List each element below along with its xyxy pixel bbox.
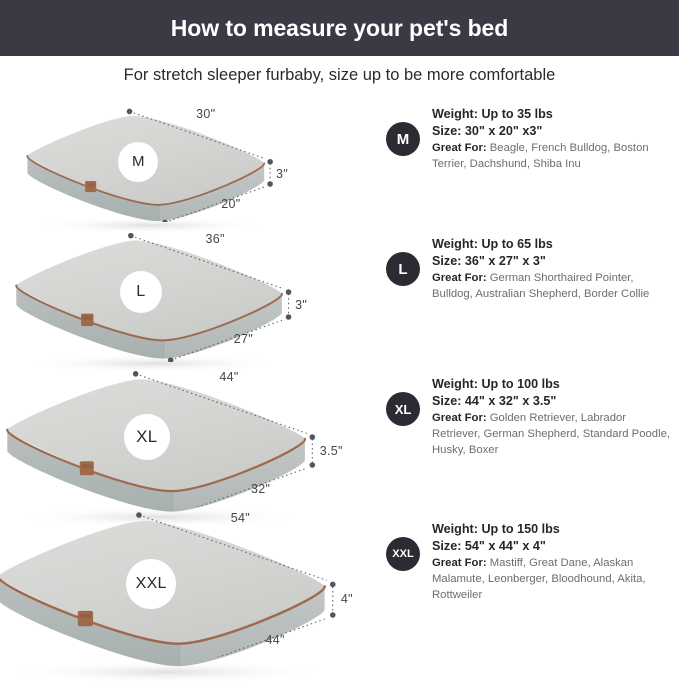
page-header-bar: How to measure your pet's bed xyxy=(0,0,679,56)
size-line: Size: 54" x 44" x 4" xyxy=(432,538,672,555)
weight-label: Weight: xyxy=(432,377,481,391)
size-value: 44" x 32" x 3.5" xyxy=(465,394,556,408)
size-badge-xl: XL xyxy=(386,392,420,426)
size-label: Size: xyxy=(432,539,465,553)
dimension-lines xyxy=(0,94,380,222)
weight-line: Weight: Up to 100 lbs xyxy=(432,376,672,393)
great-for-label: Great For: xyxy=(432,557,490,569)
weight-value: Up to 100 lbs xyxy=(481,377,559,391)
size-rows-container: M 30"3"20"M Weight: Up to 35 lbs Size: 3… xyxy=(0,94,679,657)
size-info-text: Weight: Up to 35 lbs Size: 30" x 20" x3"… xyxy=(432,106,672,172)
great-for-label: Great For: xyxy=(432,412,490,424)
dimension-label-width: 20" xyxy=(221,197,240,211)
dimension-lines xyxy=(0,222,380,362)
great-for-line: Great For: Beagle, French Bulldog, Bosto… xyxy=(432,140,672,172)
great-for-line: Great For: German Shorthaired Pointer, B… xyxy=(432,270,672,302)
weight-line: Weight: Up to 35 lbs xyxy=(432,106,672,123)
size-value: 30" x 20" x3" xyxy=(465,124,542,138)
size-line: Size: 36" x 27" x 3" xyxy=(432,253,672,270)
weight-line: Weight: Up to 150 lbs xyxy=(432,521,672,538)
dimension-label-length: 36" xyxy=(206,232,225,246)
bed-area-xxl: XXL 54"4"44" xyxy=(0,507,380,650)
dimension-label-width: 27" xyxy=(234,332,253,346)
weight-label: Weight: xyxy=(432,522,481,536)
dimension-label-height: 3" xyxy=(276,167,288,181)
size-row-xxl: XXL 54"4"44"XXL Weight: Up to 150 lbs Si… xyxy=(0,507,679,657)
weight-line: Weight: Up to 65 lbs xyxy=(432,236,672,253)
weight-value: Up to 65 lbs xyxy=(481,237,552,251)
dimension-overlay: 30"3"20" xyxy=(0,94,380,222)
size-label: Size: xyxy=(432,254,465,268)
subtitle-container: For stretch sleeper furbaby, size up to … xyxy=(0,56,679,94)
size-row-m: M 30"3"20"M Weight: Up to 35 lbs Size: 3… xyxy=(0,94,679,222)
dimension-label-length: 30" xyxy=(196,107,215,121)
bed-area-xl: XL 44"3.5"32" xyxy=(0,362,380,505)
size-label: Size: xyxy=(432,394,465,408)
page-title: How to measure your pet's bed xyxy=(171,15,508,42)
dimension-overlay: 44"3.5"32" xyxy=(0,362,380,507)
bed-area-m: M 30"3"20" xyxy=(0,94,380,237)
weight-value: Up to 35 lbs xyxy=(481,107,552,121)
dimension-label-width: 32" xyxy=(251,482,270,496)
dimension-label-length: 44" xyxy=(219,370,238,384)
dimension-label-width: 44" xyxy=(265,633,284,647)
size-badge-m: M xyxy=(386,122,420,156)
size-info-text: Weight: Up to 150 lbs Size: 54" x 44" x … xyxy=(432,521,672,603)
dimension-label-height: 3" xyxy=(295,298,307,312)
size-row-l: L 36"3"27"L Weight: Up to 65 lbs Size: 3… xyxy=(0,222,679,362)
dimension-label-length: 54" xyxy=(231,511,250,525)
size-row-xl: XL 44"3.5"32"XL Weight: Up to 100 lbs Si… xyxy=(0,362,679,507)
size-line: Size: 30" x 20" x3" xyxy=(432,123,672,140)
dimension-label-height: 4" xyxy=(341,592,353,606)
weight-value: Up to 150 lbs xyxy=(481,522,559,536)
size-value: 36" x 27" x 3" xyxy=(465,254,546,268)
size-badge-l: L xyxy=(386,252,420,286)
great-for-label: Great For: xyxy=(432,142,490,154)
dimension-label-height: 3.5" xyxy=(320,444,343,458)
bed-area-l: L 36"3"27" xyxy=(0,222,380,365)
dimension-lines xyxy=(0,507,380,657)
dimension-overlay: 54"4"44" xyxy=(0,507,380,657)
size-line: Size: 44" x 32" x 3.5" xyxy=(432,393,672,410)
weight-label: Weight: xyxy=(432,237,481,251)
dimension-lines xyxy=(0,362,380,507)
size-info-text: Weight: Up to 65 lbs Size: 36" x 27" x 3… xyxy=(432,236,672,302)
size-label: Size: xyxy=(432,124,465,138)
weight-label: Weight: xyxy=(432,107,481,121)
page-subtitle: For stretch sleeper furbaby, size up to … xyxy=(124,66,556,85)
great-for-line: Great For: Mastiff, Great Dane, Alaskan … xyxy=(432,555,672,603)
size-value: 54" x 44" x 4" xyxy=(465,539,546,553)
size-info-text: Weight: Up to 100 lbs Size: 44" x 32" x … xyxy=(432,376,672,458)
great-for-label: Great For: xyxy=(432,272,490,284)
dimension-overlay: 36"3"27" xyxy=(0,222,380,362)
great-for-line: Great For: Golden Retriever, Labrador Re… xyxy=(432,410,672,458)
size-badge-xxl: XXL xyxy=(386,537,420,571)
